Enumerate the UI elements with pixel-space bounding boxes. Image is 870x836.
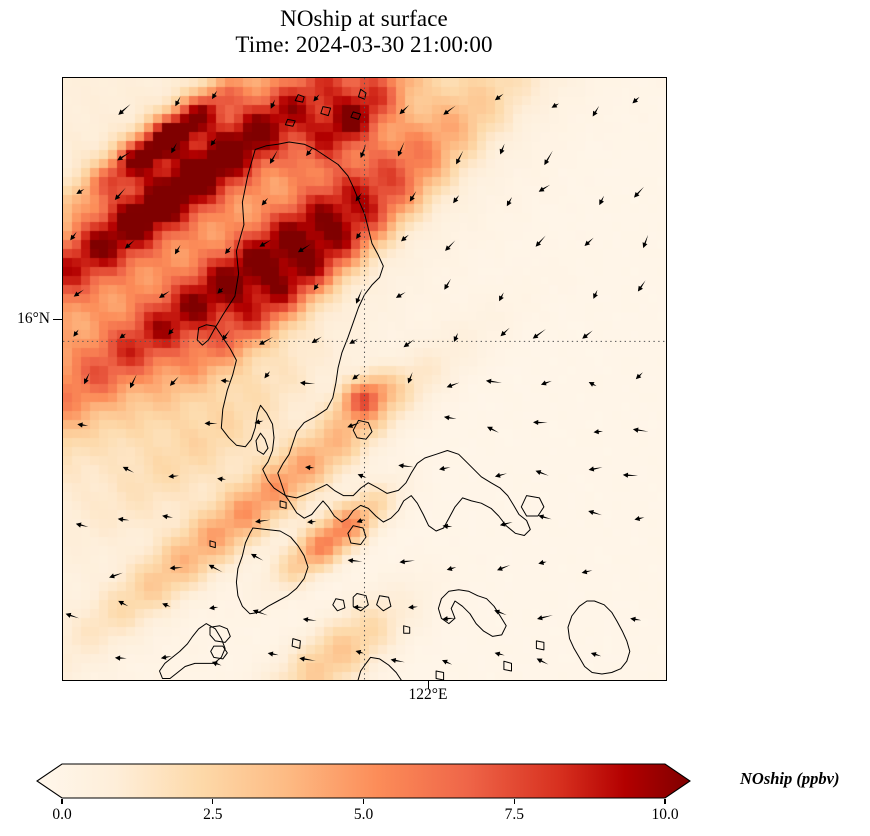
colorbar-tick-label: 5.0 [334, 806, 394, 824]
colorbar[interactable] [28, 758, 700, 804]
colorbar-tick-mark [514, 799, 515, 804]
page-title: NOship at surface [0, 6, 728, 32]
colorbar-tick-label: 2.5 [183, 806, 243, 824]
axis-label-longitude: 122°E [397, 686, 459, 704]
tick-mark-lat-16n [53, 319, 62, 320]
axis-label-latitude: 16°N [10, 310, 50, 328]
concentration-heatmap [63, 78, 666, 680]
title-timestamp: Time: 2024-03-30 21:00:00 [0, 32, 728, 58]
colorbar-tick-label: 7.5 [484, 806, 544, 824]
colorbar-gradient-bar [37, 764, 690, 798]
colorbar-tick-mark [212, 799, 213, 804]
colorbar-label: NOship (ppbv) [740, 769, 839, 789]
colorbar-tick-mark [363, 799, 364, 804]
map-panel[interactable] [62, 77, 667, 681]
colorbar-tick-label: 0.0 [32, 806, 92, 824]
figure-title-block: NOship at surface Time: 2024-03-30 21:00… [0, 6, 728, 58]
colorbar-tick-mark [664, 799, 665, 804]
colorbar-tick-mark [61, 799, 62, 804]
colorbar-tick-label: 10.0 [635, 806, 695, 824]
